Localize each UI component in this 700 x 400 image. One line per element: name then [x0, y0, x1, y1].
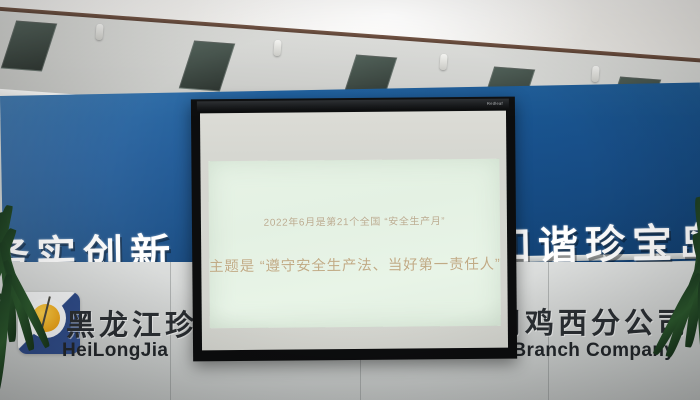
company-name-chinese-left: 黑龙江珍 [66, 302, 198, 344]
ceiling-hanger [95, 24, 103, 40]
projected-slide: 2022年6月是第21个全国 “安全生产月” 主题是 “遵守安全生产法、当好第一… [208, 159, 500, 329]
projector-screen: Redleaf 2022年6月是第21个全国 “安全生产月” 主题是 “遵守安全… [191, 97, 517, 362]
screen-brand-label: Redleaf [487, 101, 503, 106]
slide-line-1: 2022年6月是第21个全国 “安全生产月” [264, 212, 446, 229]
ceiling-hanger [439, 54, 447, 70]
photo-scene: 务实创新 和谐珍宝岛 RACTICAL INNOVATI NG HARMONIO… [0, 0, 700, 400]
ceiling-hanger [591, 66, 599, 82]
ceiling-hanger [273, 40, 281, 56]
slide-line-2: 主题是 “遵守安全生产法、当好第一责任人” [209, 252, 501, 276]
screen-surface: 2022年6月是第21个全国 “安全生产月” 主题是 “遵守安全生产法、当好第一… [200, 111, 508, 351]
company-name-chinese-right: 司鸡西分公司 [492, 300, 690, 342]
company-name-english-left: HeiLongJia [62, 340, 168, 362]
